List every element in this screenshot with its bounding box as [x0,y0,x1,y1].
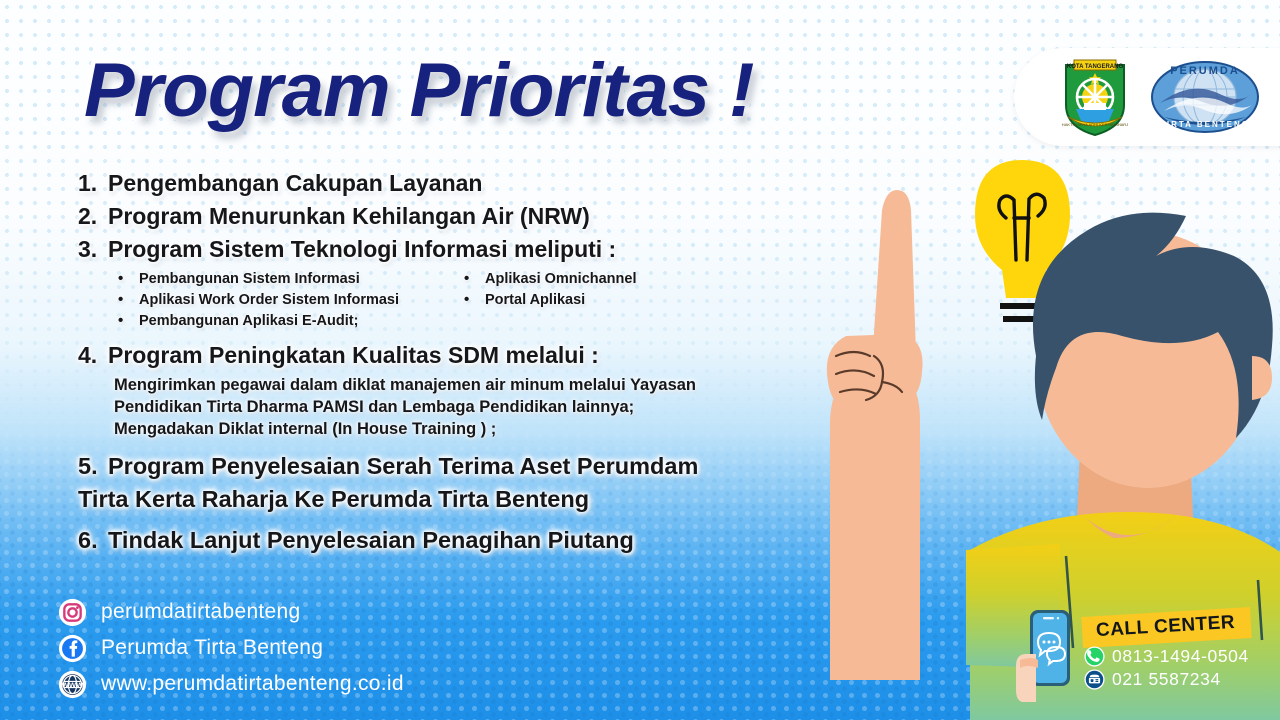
call-center-block: CALL CENTER 0813-1494-0504 021 5587234 [1018,606,1280,706]
call-center-heading: CALL CENTER [1081,607,1252,648]
item3-subitems-left: Pembangunan Sistem Informasi Aplikasi Wo… [112,269,442,332]
social-row-website[interactable]: WWW www.perumdatirtabenteng.co.id [58,668,404,700]
list-item-number: 4. [78,342,108,369]
facebook-icon[interactable] [58,634,87,663]
item4-paragraph: Mengirimkan pegawai dalam diklat manajem… [114,375,699,441]
svg-text:TIRTA BENTENG: TIRTA BENTENG [1160,120,1250,129]
sub-list-item: Aplikasi Work Order Sistem Informasi [112,290,442,311]
list-item: 6. Tindak Lanjut Penyelesaian Penagihan … [78,527,778,554]
perumda-tirta-benteng-logo-icon: PERUMDA TIRTA BENTENG [1150,59,1260,135]
list-item-label: Program Peningkatan Kualitas SDM melalui… [108,342,599,369]
sub-list-item: Aplikasi Omnichannel [458,269,637,290]
list-item-number: 5. [78,453,108,480]
page-title: Program Prioritas ! [84,47,753,134]
sub-list-item: Pembangunan Sistem Informasi [112,269,442,290]
telephone-icon[interactable] [1084,669,1105,690]
logo-container: KOTA TANGERANG BHAKTI KARYA ADHI KERTARA… [1014,48,1280,146]
svg-text:WWW: WWW [62,680,85,689]
list-item-label: Tindak Lanjut Penyelesaian Penagihan Piu… [108,527,634,554]
call-center-whatsapp-number: 0813-1494-0504 [1112,646,1249,667]
social-row-facebook[interactable]: Perumda Tirta Benteng [58,632,404,664]
call-center-phone-number: 021 5587234 [1112,669,1221,690]
sub-list-item: Pembangunan Aplikasi E-Audit; [112,311,442,332]
whatsapp-icon[interactable] [1084,646,1105,667]
list-item: 1. Pengembangan Cakupan Layanan [78,170,778,197]
list-item-number: 2. [78,203,108,230]
poster-canvas: Program Prioritas ! KOTA TANGERANG BHAKT… [0,0,1280,720]
sub-list-item: Portal Aplikasi [458,290,637,311]
program-list: 1. Pengembangan Cakupan Layanan 2. Progr… [78,170,778,560]
social-handle: www.perumdatirtabenteng.co.id [101,672,404,696]
item3-subitems: Pembangunan Sistem Informasi Aplikasi Wo… [112,269,778,332]
list-item-number: 6. [78,527,108,554]
list-item-number: 3. [78,236,108,263]
list-item: 5. Program Penyelesaian Serah Terima Ase… [78,453,778,480]
social-handle: perumdatirtabenteng [101,600,301,624]
item3-subitems-right: Aplikasi Omnichannel Portal Aplikasi [458,269,637,332]
website-icon[interactable]: WWW [58,670,87,699]
kota-tangerang-crest-icon: KOTA TANGERANG BHAKTI KARYA ADHI KERTARA… [1062,57,1128,137]
list-item-number: 1. [78,170,108,197]
list-item: 4. Program Peningkatan Kualitas SDM mela… [78,342,778,369]
list-item-label: Pengembangan Cakupan Layanan [108,170,482,197]
list-item: 3. Program Sistem Teknologi Informasi me… [78,236,778,263]
call-center-phone-row[interactable]: 021 5587234 [1084,669,1221,690]
list-item-label: Program Penyelesaian Serah Terima Aset P… [108,453,698,480]
item5-continuation: Tirta Kerta Raharja Ke Perumda Tirta Ben… [78,486,778,513]
svg-text:KOTA TANGERANG: KOTA TANGERANG [1067,64,1124,70]
social-links: perumdatirtabenteng Perumda Tirta Benten… [58,596,404,704]
svg-text:BHAKTI KARYA ADHI KERTARAHARJA: BHAKTI KARYA ADHI KERTARAHARJA [1062,122,1128,127]
list-item: 2. Program Menurunkan Kehilangan Air (NR… [78,203,778,230]
social-handle: Perumda Tirta Benteng [101,636,323,660]
instagram-icon[interactable] [58,598,87,627]
call-center-whatsapp-row[interactable]: 0813-1494-0504 [1084,646,1249,667]
list-item-label: Program Sistem Teknologi Informasi melip… [108,236,616,263]
svg-text:PERUMDA: PERUMDA [1170,65,1240,77]
social-row-instagram[interactable]: perumdatirtabenteng [58,596,404,628]
list-item-label: Program Menurunkan Kehilangan Air (NRW) [108,203,590,230]
